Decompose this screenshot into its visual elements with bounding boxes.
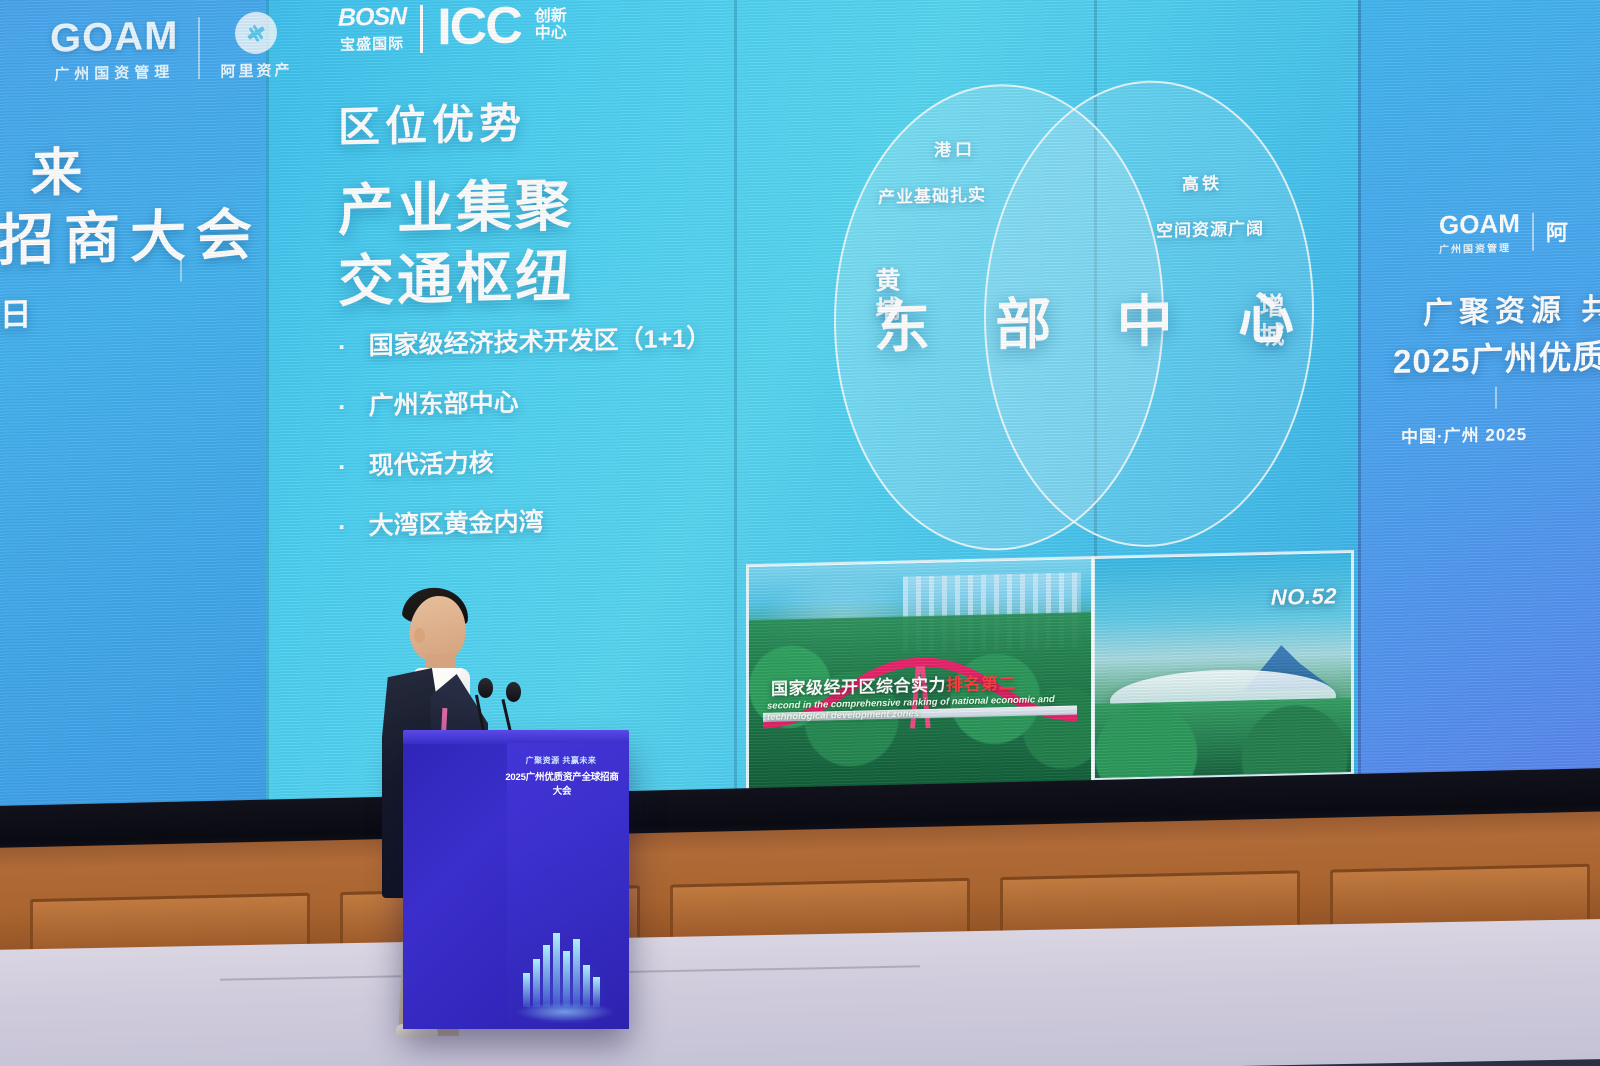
ali-assets-logo: 阿里资产 [220,11,292,82]
goam-subtitle: 广州国资管理 [54,60,174,84]
aerial-photo-card: NO.52 [1092,550,1354,781]
bullet-marker: · [338,454,347,480]
venn-core-text: 东 部 中 心 [874,273,1294,364]
microphone-head [478,678,493,698]
slide-headline: 产业集聚 交通枢纽 [338,170,574,317]
photo-card-group: 国家级经开区综合实力排名第二 second in the comprehensi… [746,550,1354,792]
status-badge: NO.52 [1271,583,1337,611]
list-item: · 广州东部中心 [338,385,711,420]
podium-top-surface [403,730,629,744]
bosn-subtitle: 宝盛国际 [340,32,404,55]
icc-divider [420,4,423,52]
podium-tagline: 广聚资源 共赢未来 [505,755,617,766]
bosn-logo: BOSN 宝盛国际 [338,4,406,55]
logo-divider [198,17,200,79]
icc-subtitle-block: 创新 中心 [535,8,567,42]
bosn-icc-logo: BOSN 宝盛国际 ICC 创新 中心 [338,1,567,55]
podium-event-title: 2025广州优质资产全球招商大会 [501,769,623,797]
right-panel-line1: 广聚资源 共 [1423,284,1600,333]
bosn-wordmark: BOSN [338,4,406,31]
venn-right-label-1: 高铁 [1182,169,1222,195]
right-wing-panel: GOAM 广州国资管理 阿 广聚资源 共 2025广州优质资产 中国·广州 20… [1358,0,1600,798]
podium-front-face: 广聚资源 共赢未来 2025广州优质资产全球招商大会 [507,743,629,1029]
slide-bullet-list: · 国家级经济技术开发区（1+1） · 广州东部中心 · 现代活力核 · 大湾区… [338,325,711,574]
headline-line-1: 产业集聚 [338,170,574,246]
left-panel-divider [180,254,182,282]
bullet-marker: · [338,514,347,540]
goam-logo: GOAM 广州国资管理 [50,15,178,84]
goam-wordmark: GOAM [50,15,178,58]
left-panel-line3: 24日 [0,289,34,337]
right-panel-logo: GOAM 广州国资管理 阿 [1439,209,1568,256]
bullet-text: 广州东部中心 [369,390,519,419]
bridge-photo-card: 国家级经开区综合实力排名第二 second in the comprehensi… [746,556,1094,792]
conference-stage-scene: 未 来 球招商大会 24日 GOAM 广州国资管理 [0,0,1600,1066]
core-char-2: 部 [995,279,1051,361]
microphone-head [506,682,521,702]
right-logo-divider [1532,213,1534,251]
slide-section-title: 区位优势 [338,89,526,154]
list-item: · 现代活力核 [338,445,711,480]
core-char-1: 东 [874,282,930,364]
icc-sub-line1: 创新 [535,8,567,26]
list-item: · 国家级经济技术开发区（1+1） [338,325,711,360]
hammer-icon [243,20,269,47]
sponsor-logo-bar: GOAM 广州国资管理 阿里资产 [50,11,292,86]
headline-line-2: 交通枢纽 [338,241,574,317]
venn-left-label-2: 产业基础扎实 [878,181,986,209]
venn-left-label-1: 港口 [934,135,976,161]
bullet-marker: · [338,394,347,420]
bridge-headline-highlight: 排名第二 [946,674,1016,695]
ali-circle-icon [235,11,277,54]
right-panel-line2: 2025广州优质资产 [1393,328,1600,383]
right-goam-wordmark: GOAM [1439,210,1520,238]
right-goam-logo: GOAM 广州国资管理 [1439,210,1520,256]
podium: 广聚资源 共赢未来 2025广州优质资产全球招商大会 [403,737,629,1029]
bullet-text: 大湾区黄金内湾 [369,510,544,539]
podium-skyline-graphic [509,931,621,1023]
bullet-marker: · [338,334,347,360]
icc-sub-line2: 中心 [535,25,567,43]
list-item: · 大湾区黄金内湾 [338,505,711,540]
venn-right-label-2: 空间资源广阔 [1156,214,1264,242]
left-wing-panel: 未 来 球招商大会 24日 [0,0,266,830]
core-char-3: 中 [1117,276,1173,358]
right-goam-subtitle: 广州国资管理 [1439,239,1520,256]
core-char-4: 心 [1238,273,1294,355]
right-ali-wordmark: 阿 [1546,215,1568,248]
right-panel-line3: 中国·广州 2025 [1401,420,1527,448]
aerial-greenery [1095,698,1351,778]
bullet-text: 国家级经济技术开发区（1+1） [369,326,711,359]
left-panel-line2: 球招商大会 [0,190,262,279]
icc-wordmark: ICC [437,3,521,52]
speaker-ear [414,628,425,643]
led-video-wall: 未 来 球招商大会 24日 GOAM 广州国资管理 [0,0,1600,840]
led-screen-surface: 未 来 球招商大会 24日 GOAM 广州国资管理 [0,0,1600,830]
ali-subtitle: 阿里资产 [220,59,292,82]
venn-diagram: 港口 产业基础扎实 高铁 空间资源广阔 黄埔 增城 东 部 中 心 [834,77,1314,558]
bullet-text: 现代活力核 [369,451,494,479]
right-panel-divider [1495,387,1497,409]
bridge-headline-prefix: 国家级经开区综合实力 [771,676,946,699]
